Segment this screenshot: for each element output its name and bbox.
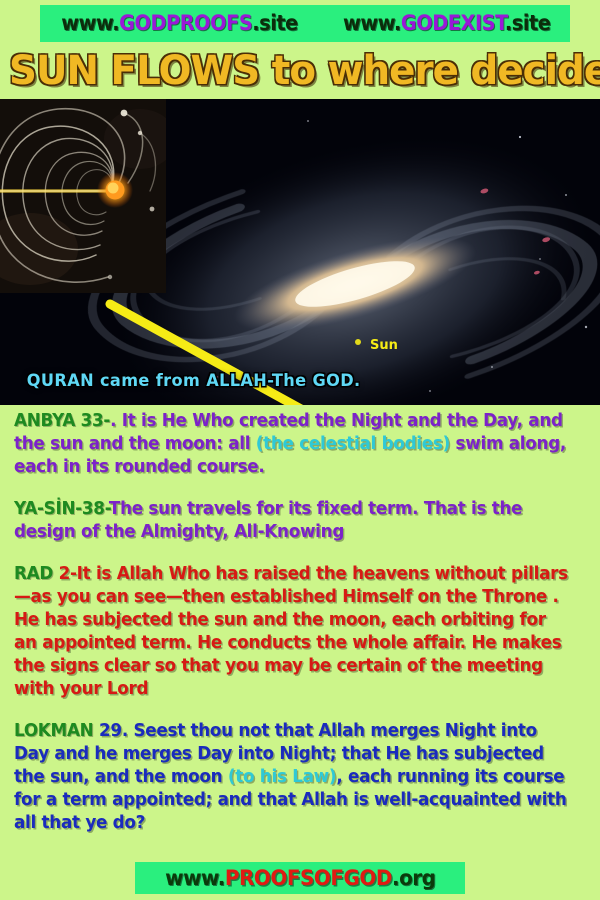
headline-title: SUN FLOWS to where decided [9,46,591,96]
verse-reference: LOKMAN [14,721,99,741]
hero-image: Sun [0,99,600,405]
verse-reference: RAD [14,564,59,584]
url-suffix: .site [505,11,551,35]
verse-text: 2-It is Allah Who has raised the heavens… [14,564,568,699]
poster-root: www.GODPROOFS.site www.GODEXIST.site SUN… [0,0,600,900]
galaxy-illustration: Sun [0,99,600,405]
url-brand: PROOFSOFGOD [225,866,392,890]
url-prefix: www. [61,11,119,35]
url-godproofs[interactable]: www.GODPROOFS.site [61,13,298,34]
url-prefix: www. [165,866,225,890]
url-proofsofgod[interactable]: www.PROOFSOFGOD.org [165,868,435,889]
helical-solar-system-inset [0,99,176,293]
top-url-band: www.GODPROOFS.site www.GODEXIST.site [40,5,570,42]
verse-lokman: LOKMAN 29. Seest thou not that Allah mer… [14,720,569,835]
verse-rad: RAD 2-It is Allah Who has raised the hea… [14,563,569,701]
url-suffix: .site [252,11,298,35]
verse-reference: ANBYA 33- [14,411,110,431]
verse-parenthetical: (to his Law) [228,767,336,787]
url-suffix: .org [392,866,436,890]
sun-marker-label: Sun [370,338,398,353]
verse-list: ANBYA 33-. It is He Who created the Nigh… [14,410,592,854]
footer-url-band: www.PROOFSOFGOD.org [135,862,465,894]
hero-caption: QURAN came from ALLAH-The GOD. [27,371,361,391]
url-brand: GODEXIST [401,11,505,35]
verse-reference: YA-SİN-38- [14,499,109,519]
url-prefix: www. [343,11,401,35]
verse-yasin: YA-SİN-38-The sun travels for its fixed … [14,498,569,544]
url-godexist[interactable]: www.GODEXIST.site [343,13,550,34]
verse-anbya: ANBYA 33-. It is He Who created the Nigh… [14,410,569,479]
url-brand: GODPROOFS [119,11,252,35]
verse-parenthetical: (the celestial bodies) [256,434,450,454]
